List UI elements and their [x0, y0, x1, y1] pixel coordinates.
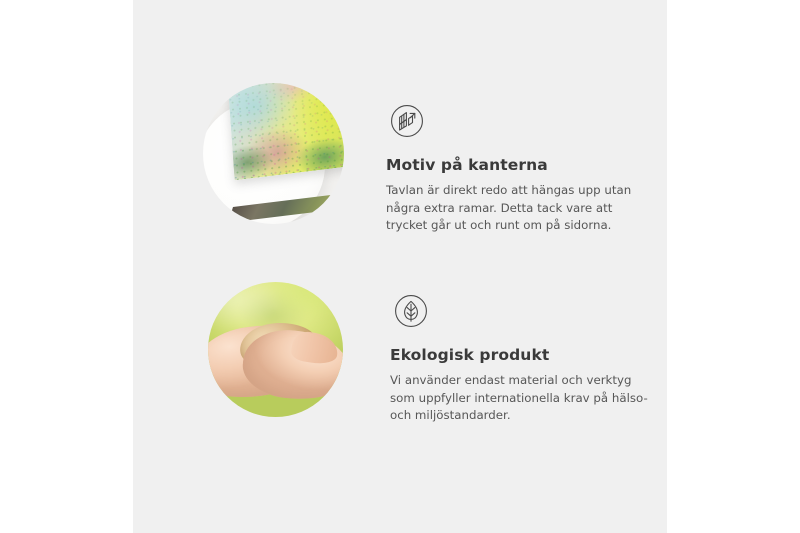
canvas-front-face: [227, 83, 344, 180]
feature-body-text: Vi använder endast material och verktyg …: [390, 372, 652, 426]
canvas-print-object: [233, 83, 344, 209]
hands-with-wood-chips-photo: [200, 276, 350, 448]
photo-circle-mask-1: [203, 83, 344, 224]
feature-block-ekologisk-produkt: Ekologisk produkt Vi använder endast mat…: [200, 276, 658, 448]
feature-title: Motiv på kanterna: [386, 156, 654, 175]
canvas-edge-print-icon: [386, 100, 428, 142]
feature-title: Ekologisk produkt: [390, 346, 658, 365]
feature-text-column-1: Motiv på kanterna Tavlan är direkt redo …: [346, 78, 654, 235]
photo-circle-mask-2: [208, 282, 343, 417]
leaf-icon: [390, 290, 432, 332]
paint-speckle-texture: [227, 83, 344, 180]
canvas-print-corner-photo: [196, 78, 346, 250]
feature-block-motiv-pa-kanterna: Motiv på kanterna Tavlan är direkt redo …: [196, 78, 654, 250]
product-feature-banner: Motiv på kanterna Tavlan är direkt redo …: [0, 0, 800, 533]
feature-text-column-2: Ekologisk produkt Vi använder endast mat…: [350, 276, 658, 425]
feature-body-text: Tavlan är direkt redo att hängas upp uta…: [386, 182, 648, 236]
